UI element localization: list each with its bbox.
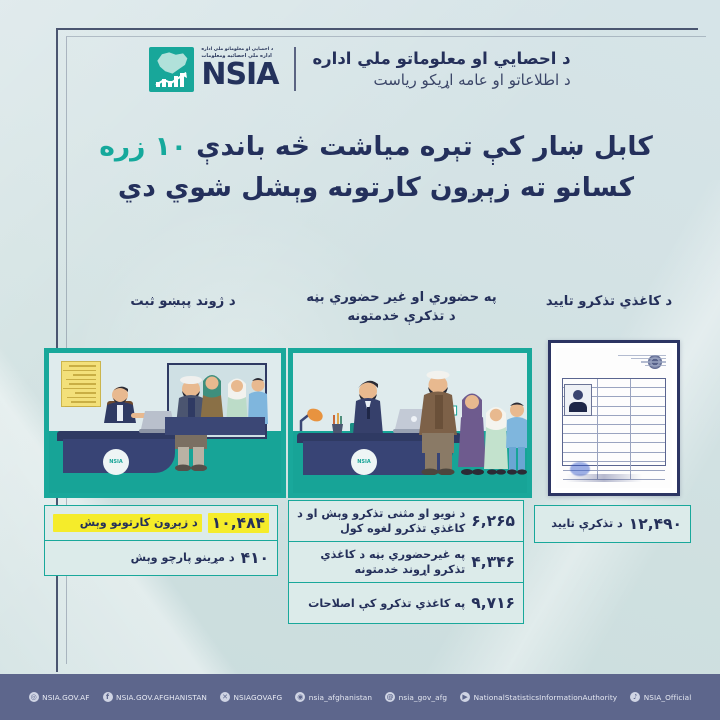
poster-header: د احصایي او معلوماتو ملي اداره د اطلاعات… (0, 38, 720, 100)
illustration-panel-left: NSIA (44, 348, 286, 498)
instagram-icon: ◉ (295, 692, 305, 702)
document-portrait-photo (564, 384, 592, 416)
scene-left: NSIA (49, 353, 281, 493)
data-value: ۶,۲۶۵ (471, 512, 515, 530)
desk-lamp-icon (297, 405, 325, 435)
header-title-dari: د اطلاعاتو او عامه اړیکو ریاست (312, 71, 570, 89)
footer-label: NationalStatisticsInformationAuthority (474, 693, 618, 702)
footer-item-youtube[interactable]: ▶ NationalStatisticsInformationAuthority (460, 692, 617, 702)
footer-label: NSIAGOVAFG (234, 693, 283, 702)
table-row: ۱۰,۴۸۴ د زېږون کارتونو وېش (45, 506, 277, 541)
footer-label: nsia_afghanistan (309, 693, 372, 702)
logo-bars-icon (155, 72, 188, 87)
infographic-poster: د احصایي او معلوماتو ملي اداره د اطلاعات… (0, 0, 720, 720)
section-heading-middle: په حضوري او غیر حضوري بڼه د تذکرې خدمتون… (284, 288, 519, 326)
logo-map-chart-icon (149, 47, 194, 92)
header-title-block: د احصایي او معلوماتو ملي اداره د اطلاعات… (312, 49, 570, 89)
footer-item-tiktok[interactable]: ♪ NSIA_Official (630, 692, 691, 702)
section-heading-right: د کاغذي تذکرو تایید (520, 292, 698, 311)
nsia-logo: د احصایې او معلوماتو ملي اداره اداره ملي… (149, 47, 278, 92)
social-footer-bar: ◎ NSIA.GOV.AF f NSIA.GOV.AFGHANISTAN ✕ N… (0, 674, 720, 720)
data-label: د نویو او مثنی تذکرو وېش او د کاغذي تذکر… (297, 506, 465, 536)
document-header (562, 353, 666, 375)
facebook-icon: f (103, 692, 113, 702)
table-row: ۴۱۰ د مړینو پارچو وېش (45, 541, 277, 575)
logo-wordmark: NSIA (201, 60, 278, 90)
threads-icon: @ (385, 692, 395, 702)
desk-nsia-badge-left: NSIA (103, 449, 129, 475)
data-label: د تذکرې تایید (543, 516, 623, 531)
data-value: ۴۱۰ (241, 549, 269, 567)
main-title-lead: کابل ښار کې تېره میاشت څه باندې (187, 131, 653, 162)
footer-label: NSIA.GOV.AFGHANISTAN (116, 693, 207, 702)
main-title-line-1: کابل ښار کې تېره میاشت څه باندې ۱۰ زره (78, 126, 674, 167)
footer-label: nsia_gov_afg (399, 693, 448, 702)
table-row: ۶,۲۶۵ د نویو او مثنی تذکرو وېش او د کاغذ… (289, 501, 523, 542)
document-inner (556, 348, 672, 488)
section-heading-middle-line2: د تذکرې خدمتونه (284, 307, 519, 326)
data-label: د زېږون کارتونو وېش (53, 514, 202, 531)
pen-cup-icon (329, 413, 345, 435)
header-title-pashto: د احصایي او معلوماتو ملي اداره (312, 49, 570, 68)
data-box-right: ۱۲,۴۹۰ د تذکرې تایید (534, 505, 691, 543)
data-value: ۴,۳۴۶ (471, 553, 515, 571)
signature-line (566, 474, 642, 482)
desk-nsia-badge-middle: NSIA (351, 449, 377, 475)
data-label: په کاغذي تذکرو کې اصلاحات (297, 596, 465, 611)
table-row: ۴,۳۴۶ په غیرحضوري بڼه د کاغذي تذکرو اړون… (289, 542, 523, 583)
footer-item-threads[interactable]: @ nsia_gov_afg (385, 692, 447, 702)
footer-item-instagram[interactable]: ◉ nsia_afghanistan (295, 692, 372, 702)
person-father-standing (415, 369, 461, 479)
data-box-left: ۱۰,۴۸۴ د زېږون کارتونو وېش ۴۱۰ د مړینو پ… (44, 505, 278, 576)
main-title-highlight: ۱۰ زره (99, 131, 187, 162)
footer-label: NSIA_Official (644, 693, 692, 702)
section-heading-left: د ژوند پېښو ثبت (78, 292, 288, 311)
header-divider (294, 47, 296, 91)
section-heading-middle-line1: په حضوري او غیر حضوري بڼه (284, 288, 519, 307)
twitter-icon: ✕ (220, 692, 230, 702)
table-row: ۹,۷۱۶ په کاغذي تذکرو کې اصلاحات (289, 583, 523, 623)
person-son-standing (505, 397, 529, 479)
footer-item-twitter[interactable]: ✕ NSIAGOVAFG (220, 692, 282, 702)
main-title: کابل ښار کې تېره میاشت څه باندې ۱۰ زره ک… (78, 126, 674, 208)
bench-icon (165, 417, 265, 435)
tiktok-icon: ♪ (630, 692, 640, 702)
table-row: ۱۲,۴۹۰ د تذکرې تایید (535, 506, 690, 542)
youtube-icon: ▶ (460, 692, 470, 702)
illustration-panel-middle: NSIA (288, 348, 532, 498)
globe-icon: ◎ (29, 692, 39, 702)
paper-tazkira-document (548, 340, 680, 496)
data-value: ۱۰,۴۸۴ (208, 513, 269, 533)
footer-label: NSIA.GOV.AF (42, 693, 89, 702)
data-label: په غیرحضوري بڼه د کاغذي تذکرو اړوند خدمت… (297, 547, 465, 577)
logo-text-block: د احصایې او معلوماتو ملي اداره اداره ملي… (201, 48, 278, 90)
footer-item-facebook[interactable]: f NSIA.GOV.AFGHANISTAN (103, 692, 207, 702)
scene-middle: NSIA (293, 353, 527, 493)
data-value: ۱۲,۴۹۰ (629, 515, 682, 533)
data-box-middle: ۶,۲۶۵ د نویو او مثنی تذکرو وېش او د کاغذ… (288, 500, 524, 624)
main-title-line-2: کسانو ته زېږون کارتونه وېشل شوي دي (78, 167, 674, 208)
footer-item-website[interactable]: ◎ NSIA.GOV.AF (29, 692, 90, 702)
data-value: ۹,۷۱۶ (471, 594, 515, 612)
data-label: د مړینو پارچو وېش (53, 550, 235, 565)
